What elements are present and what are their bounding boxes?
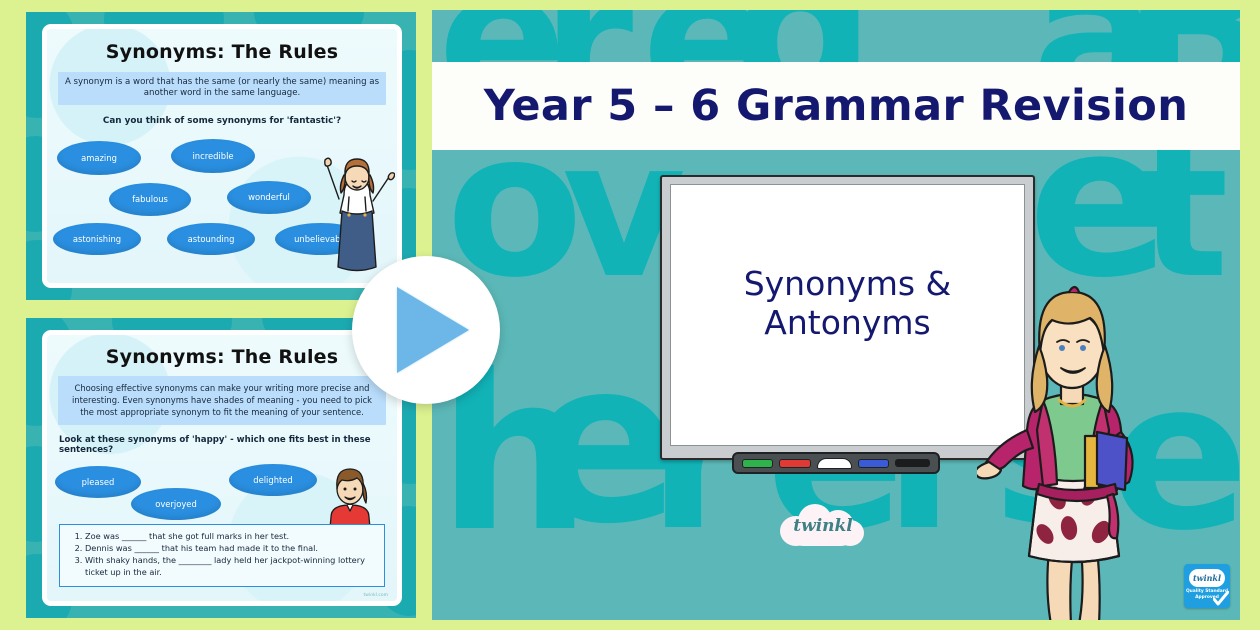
synonym-bubble[interactable]: overjoyed: [131, 488, 221, 520]
eraser-icon: [817, 458, 852, 469]
play-triangle-icon: [397, 287, 469, 373]
synonym-bubble[interactable]: astonishing: [53, 223, 141, 255]
twinkl-logo: twinkl: [780, 504, 866, 548]
main-title-band: Year 5 – 6 Grammar Revision: [432, 62, 1240, 150]
synonym-bubble[interactable]: pleased: [55, 466, 141, 498]
slide-1-statement: A synonym is a word that has the same (o…: [58, 72, 386, 105]
twinkl-logo-text: twinkl: [780, 504, 866, 548]
synonym-bubble[interactable]: fabulous: [109, 183, 191, 216]
exercise-sentence: Dennis was ______ that his team had made…: [85, 543, 376, 555]
cheering-girl-illustration: [317, 151, 395, 283]
green-pen-icon: [742, 459, 773, 468]
slide-2-watermark: twinkl.com: [364, 593, 388, 598]
whiteboard-line-1: Synonyms &: [744, 265, 952, 304]
slide-2-title: Synonyms: The Rules: [47, 335, 397, 368]
whiteboard-pen-tray: [732, 452, 940, 474]
sentence-exercise-box: Zoe was ______ that she got full marks i…: [59, 524, 385, 587]
slide-1-prompt: Can you think of some synonyms for 'fant…: [47, 116, 397, 126]
slide-2-statement: Choosing effective synonyms can make you…: [58, 376, 386, 425]
whiteboard-screen: Synonyms & Antonyms: [670, 184, 1025, 446]
slide-1-title: Synonyms: The Rules: [47, 29, 397, 63]
teacher-illustration: [977, 250, 1167, 620]
slide-1-card: Synonyms: The Rules A synonym is a word …: [42, 24, 402, 288]
exercise-sentence: With shaky hands, the ________ lady held…: [85, 555, 376, 579]
slide-2-prompt: Look at these synonyms of 'happy' - whic…: [59, 435, 397, 455]
exercise-sentence: Zoe was ______ that she got full marks i…: [85, 531, 376, 543]
red-pen-icon: [779, 459, 810, 468]
main-title: Year 5 – 6 Grammar Revision: [484, 81, 1188, 131]
synonym-bubble[interactable]: amazing: [57, 141, 141, 175]
quality-standard-badge: twinkl Quality Standard Approved: [1184, 564, 1230, 608]
slideshow-preview: Synonyms: The Rules A synonym is a word …: [0, 0, 1260, 630]
tray-slot: [895, 459, 930, 467]
synonym-bubble[interactable]: delighted: [229, 464, 317, 496]
whiteboard-line-2: Antonyms: [764, 304, 930, 343]
main-slide-preview[interactable]: e r e g a B o v e t h e r e l s e Year 5…: [432, 10, 1240, 620]
slide-thumbnail-1[interactable]: Synonyms: The Rules A synonym is a word …: [26, 12, 416, 300]
synonym-bubble[interactable]: astounding: [167, 223, 255, 255]
play-button[interactable]: [352, 256, 500, 404]
slide-thumbnail-2[interactable]: Synonyms: The Rules Choosing effective s…: [26, 318, 416, 618]
synonym-bubble[interactable]: wonderful: [227, 181, 311, 214]
checkmark-icon: [1213, 591, 1229, 607]
badge-brand-text: twinkl: [1189, 569, 1225, 587]
slide-2-card: Synonyms: The Rules Choosing effective s…: [42, 330, 402, 606]
synonym-bubble[interactable]: incredible: [171, 139, 255, 173]
blue-pen-icon: [858, 459, 889, 468]
